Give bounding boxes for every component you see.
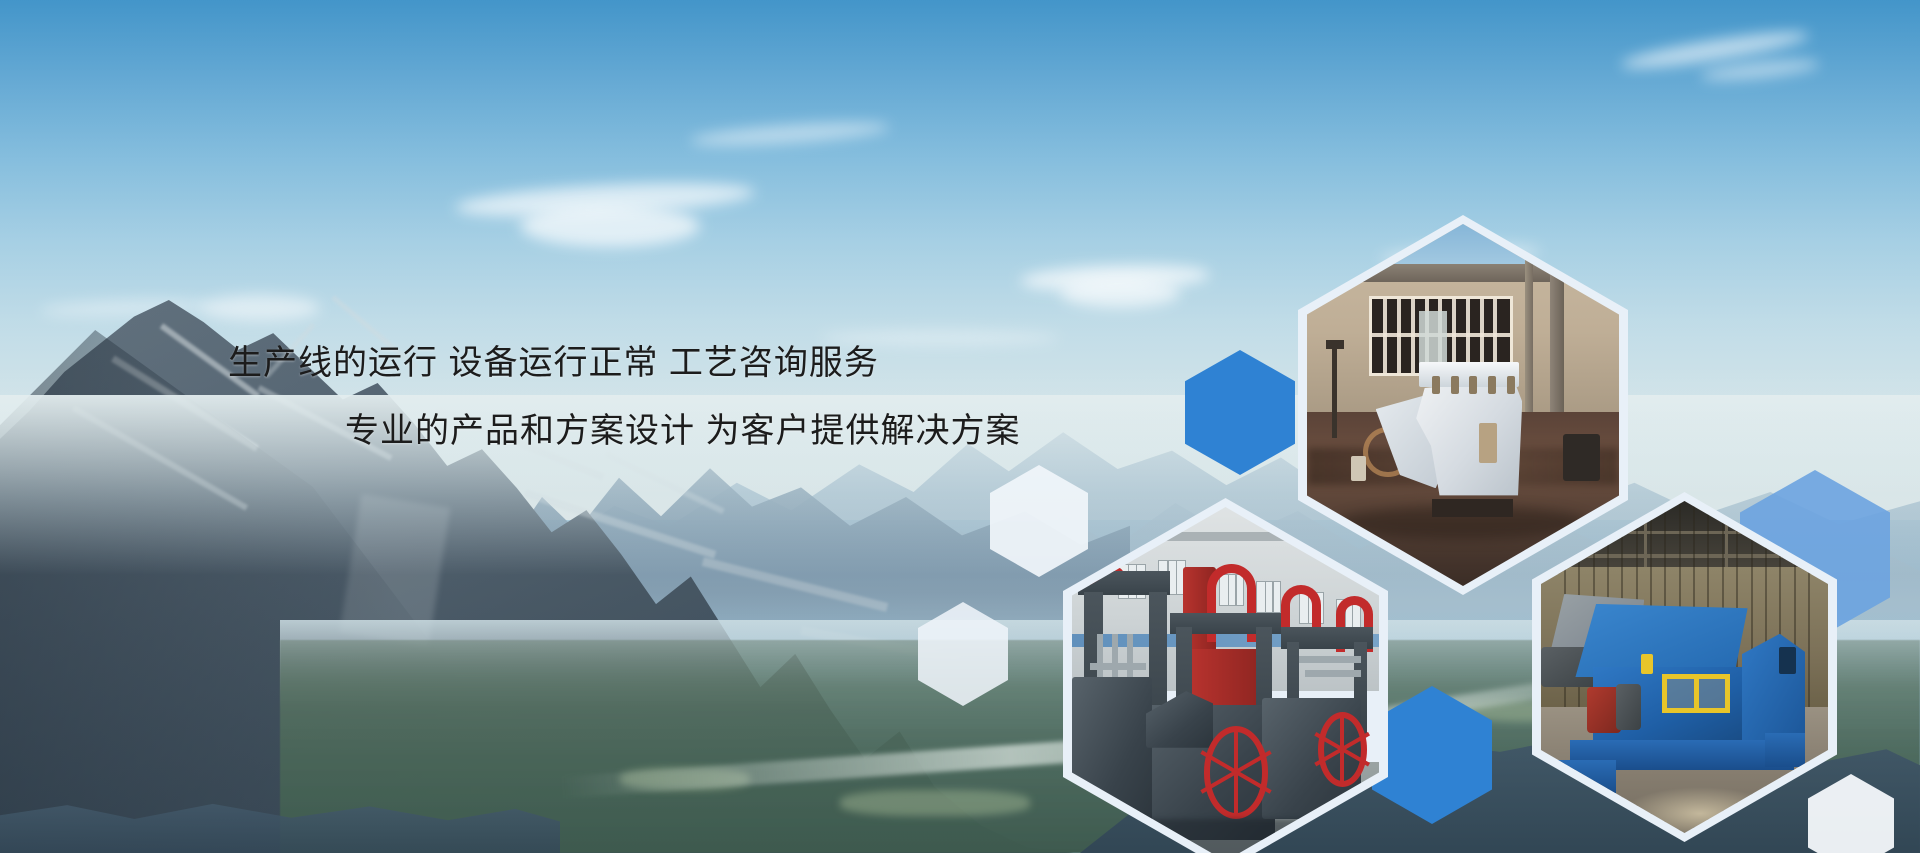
banner-stage: 生产线的运行 设备运行正常 工艺咨询服务 专业的产品和方案设计 为客户提供解决方… [0,0,1920,853]
photo-frame-inner [1541,501,1828,833]
scene-casting-ladle [1307,224,1619,586]
scene-blue-shredder [1541,501,1828,833]
headline-line-2: 专业的产品和方案设计 为客户提供解决方案 [345,403,1020,452]
cloud [520,205,700,247]
meadow [840,790,1030,816]
cloud [200,295,320,321]
headline-line-1: 生产线的运行 设备运行正常 工艺咨询服务 [228,335,879,384]
photo-frame-inner [1307,224,1619,586]
cloud [1060,278,1180,308]
